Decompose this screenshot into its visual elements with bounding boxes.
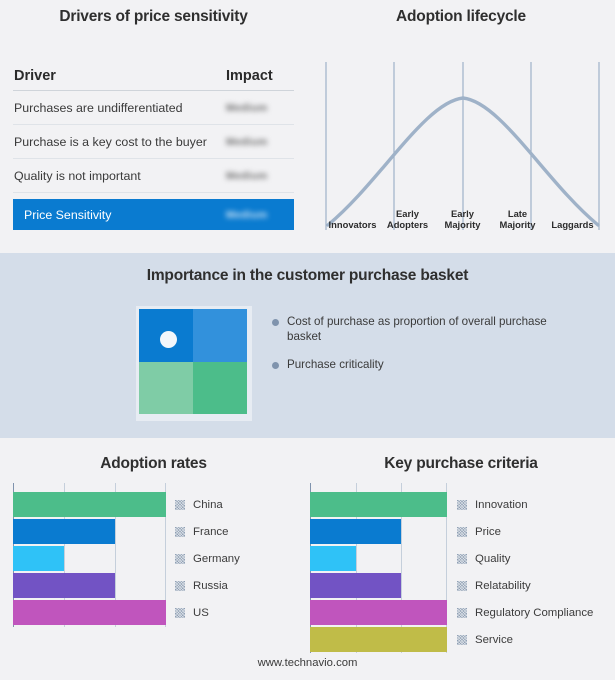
drivers-panel: Drivers of price sensitivity Driver Impa… [0, 0, 307, 253]
purchase-basket-matrix [136, 306, 252, 421]
lifecycle-stage-innovators: Innovators [325, 196, 380, 232]
basket-panel: Importance in the customer purchase bask… [0, 253, 615, 438]
legend-item[interactable]: Service [457, 626, 593, 653]
table-header-row: Driver Impact [13, 62, 294, 91]
bar-quality[interactable] [310, 546, 356, 571]
lifecycle-stage-late-majority: Late Majority [490, 196, 545, 232]
bar-russia[interactable] [13, 573, 115, 598]
adoption-rates-legend: ChinaFranceGermanyRussiaUS [175, 491, 240, 626]
lifecycle-stage-early-majority: Early Majority [435, 196, 490, 232]
legend-label: China [193, 499, 223, 511]
legend-swatch-icon [175, 608, 185, 618]
legend-swatch-icon [457, 527, 467, 537]
impact-value: Medium [226, 170, 294, 182]
drivers-title: Drivers of price sensitivity [0, 8, 307, 26]
impact-value: Medium [226, 136, 294, 148]
bar-france[interactable] [13, 519, 115, 544]
key-purchase-criteria-panel: Key purchase criteria InnovationPriceQua… [307, 438, 615, 680]
lifecycle-stage-early-adopters: Early Adopters [380, 196, 435, 232]
legend-swatch-icon [457, 635, 467, 645]
legend-label: Innovation [475, 499, 528, 511]
bar-innovation[interactable] [310, 492, 447, 517]
legend-label: Service [475, 634, 513, 646]
key-purchase-criteria-title: Key purchase criteria [307, 455, 615, 473]
lifecycle-stage-labels: Innovators Early Adopters Early Majority… [325, 196, 600, 232]
legend-item[interactable]: Innovation [457, 491, 593, 518]
lifecycle-stage-laggards: Laggards [545, 196, 600, 232]
bar-price[interactable] [310, 519, 401, 544]
driver-label: Purchases are undifferentiated [14, 101, 226, 115]
legend-swatch-icon [457, 554, 467, 564]
matrix-quadrant-bottom-left[interactable] [139, 362, 193, 415]
bar-germany[interactable] [13, 546, 64, 571]
legend-swatch-icon [175, 500, 185, 510]
legend-item[interactable]: Price [457, 518, 593, 545]
key-purchase-criteria-bars [310, 492, 447, 654]
legend-label: Quality [475, 553, 510, 565]
drivers-table: Driver Impact Purchases are undifferenti… [13, 62, 294, 230]
legend-swatch-icon [175, 581, 185, 591]
legend-swatch-icon [175, 527, 185, 537]
column-header-driver: Driver [14, 68, 226, 84]
bar-service[interactable] [310, 627, 447, 652]
legend-label: Purchase criticality [287, 358, 384, 373]
legend-item[interactable]: France [175, 518, 240, 545]
legend-item: Cost of purchase as proportion of overal… [272, 315, 572, 344]
column-header-impact: Impact [226, 68, 294, 84]
legend-item[interactable]: Relatability [457, 572, 593, 599]
legend-item[interactable]: Quality [457, 545, 593, 572]
legend-item[interactable]: Regulatory Compliance [457, 599, 593, 626]
adoption-rates-bars [13, 492, 166, 627]
legend-label: France [193, 526, 228, 538]
legend-label: Germany [193, 553, 240, 565]
matrix-quadrant-bottom-right[interactable] [193, 362, 247, 415]
driver-label: Quality is not important [14, 169, 226, 183]
matrix-legend: Cost of purchase as proportion of overal… [272, 315, 572, 387]
legend-item[interactable]: Russia [175, 572, 240, 599]
legend-label: Regulatory Compliance [475, 607, 593, 619]
legend-swatch-icon [457, 581, 467, 591]
bar-china[interactable] [13, 492, 166, 517]
driver-label: Purchase is a key cost to the buyer [14, 135, 226, 149]
legend-swatch-icon [457, 608, 467, 618]
matrix-quadrant-top-right[interactable] [193, 309, 247, 362]
table-row[interactable]: Purchases are undifferentiated Medium [13, 91, 294, 125]
legend-label: Russia [193, 580, 228, 592]
legend-item[interactable]: Germany [175, 545, 240, 572]
adoption-rates-panel: Adoption rates ChinaFranceGermanyRussiaU… [0, 438, 307, 680]
key-purchase-criteria-plot [310, 483, 447, 653]
legend-swatch-icon [175, 554, 185, 564]
lifecycle-title: Adoption lifecycle [307, 8, 615, 26]
bar-us[interactable] [13, 600, 166, 625]
bullet-icon [272, 362, 279, 369]
bar-regulatory-compliance[interactable] [310, 600, 447, 625]
legend-label: US [193, 607, 209, 619]
impact-value: Medium [226, 209, 294, 221]
adoption-rates-plot [13, 483, 166, 627]
basket-title: Importance in the customer purchase bask… [0, 267, 615, 285]
driver-label: Price Sensitivity [24, 208, 226, 222]
legend-label: Price [475, 526, 501, 538]
legend-label: Relatability [475, 580, 531, 592]
matrix-grid [139, 309, 247, 414]
adoption-rates-title: Adoption rates [0, 455, 307, 473]
legend-item[interactable]: US [175, 599, 240, 626]
bar-relatability[interactable] [310, 573, 401, 598]
table-row[interactable]: Quality is not important Medium [13, 159, 294, 193]
footer-url: www.technavio.com [0, 657, 615, 669]
table-row[interactable]: Purchase is a key cost to the buyer Medi… [13, 125, 294, 159]
legend-swatch-icon [457, 500, 467, 510]
table-row-highlighted[interactable]: Price Sensitivity Medium [13, 199, 294, 230]
key-purchase-criteria-legend: InnovationPriceQualityRelatabilityRegula… [457, 491, 593, 653]
legend-item: Purchase criticality [272, 358, 572, 373]
legend-label: Cost of purchase as proportion of overal… [287, 315, 572, 344]
matrix-position-marker [160, 331, 177, 348]
impact-value: Medium [226, 102, 294, 114]
lifecycle-panel: Adoption lifecycle Innovators Early Adop… [307, 0, 615, 253]
legend-item[interactable]: China [175, 491, 240, 518]
bullet-icon [272, 319, 279, 326]
